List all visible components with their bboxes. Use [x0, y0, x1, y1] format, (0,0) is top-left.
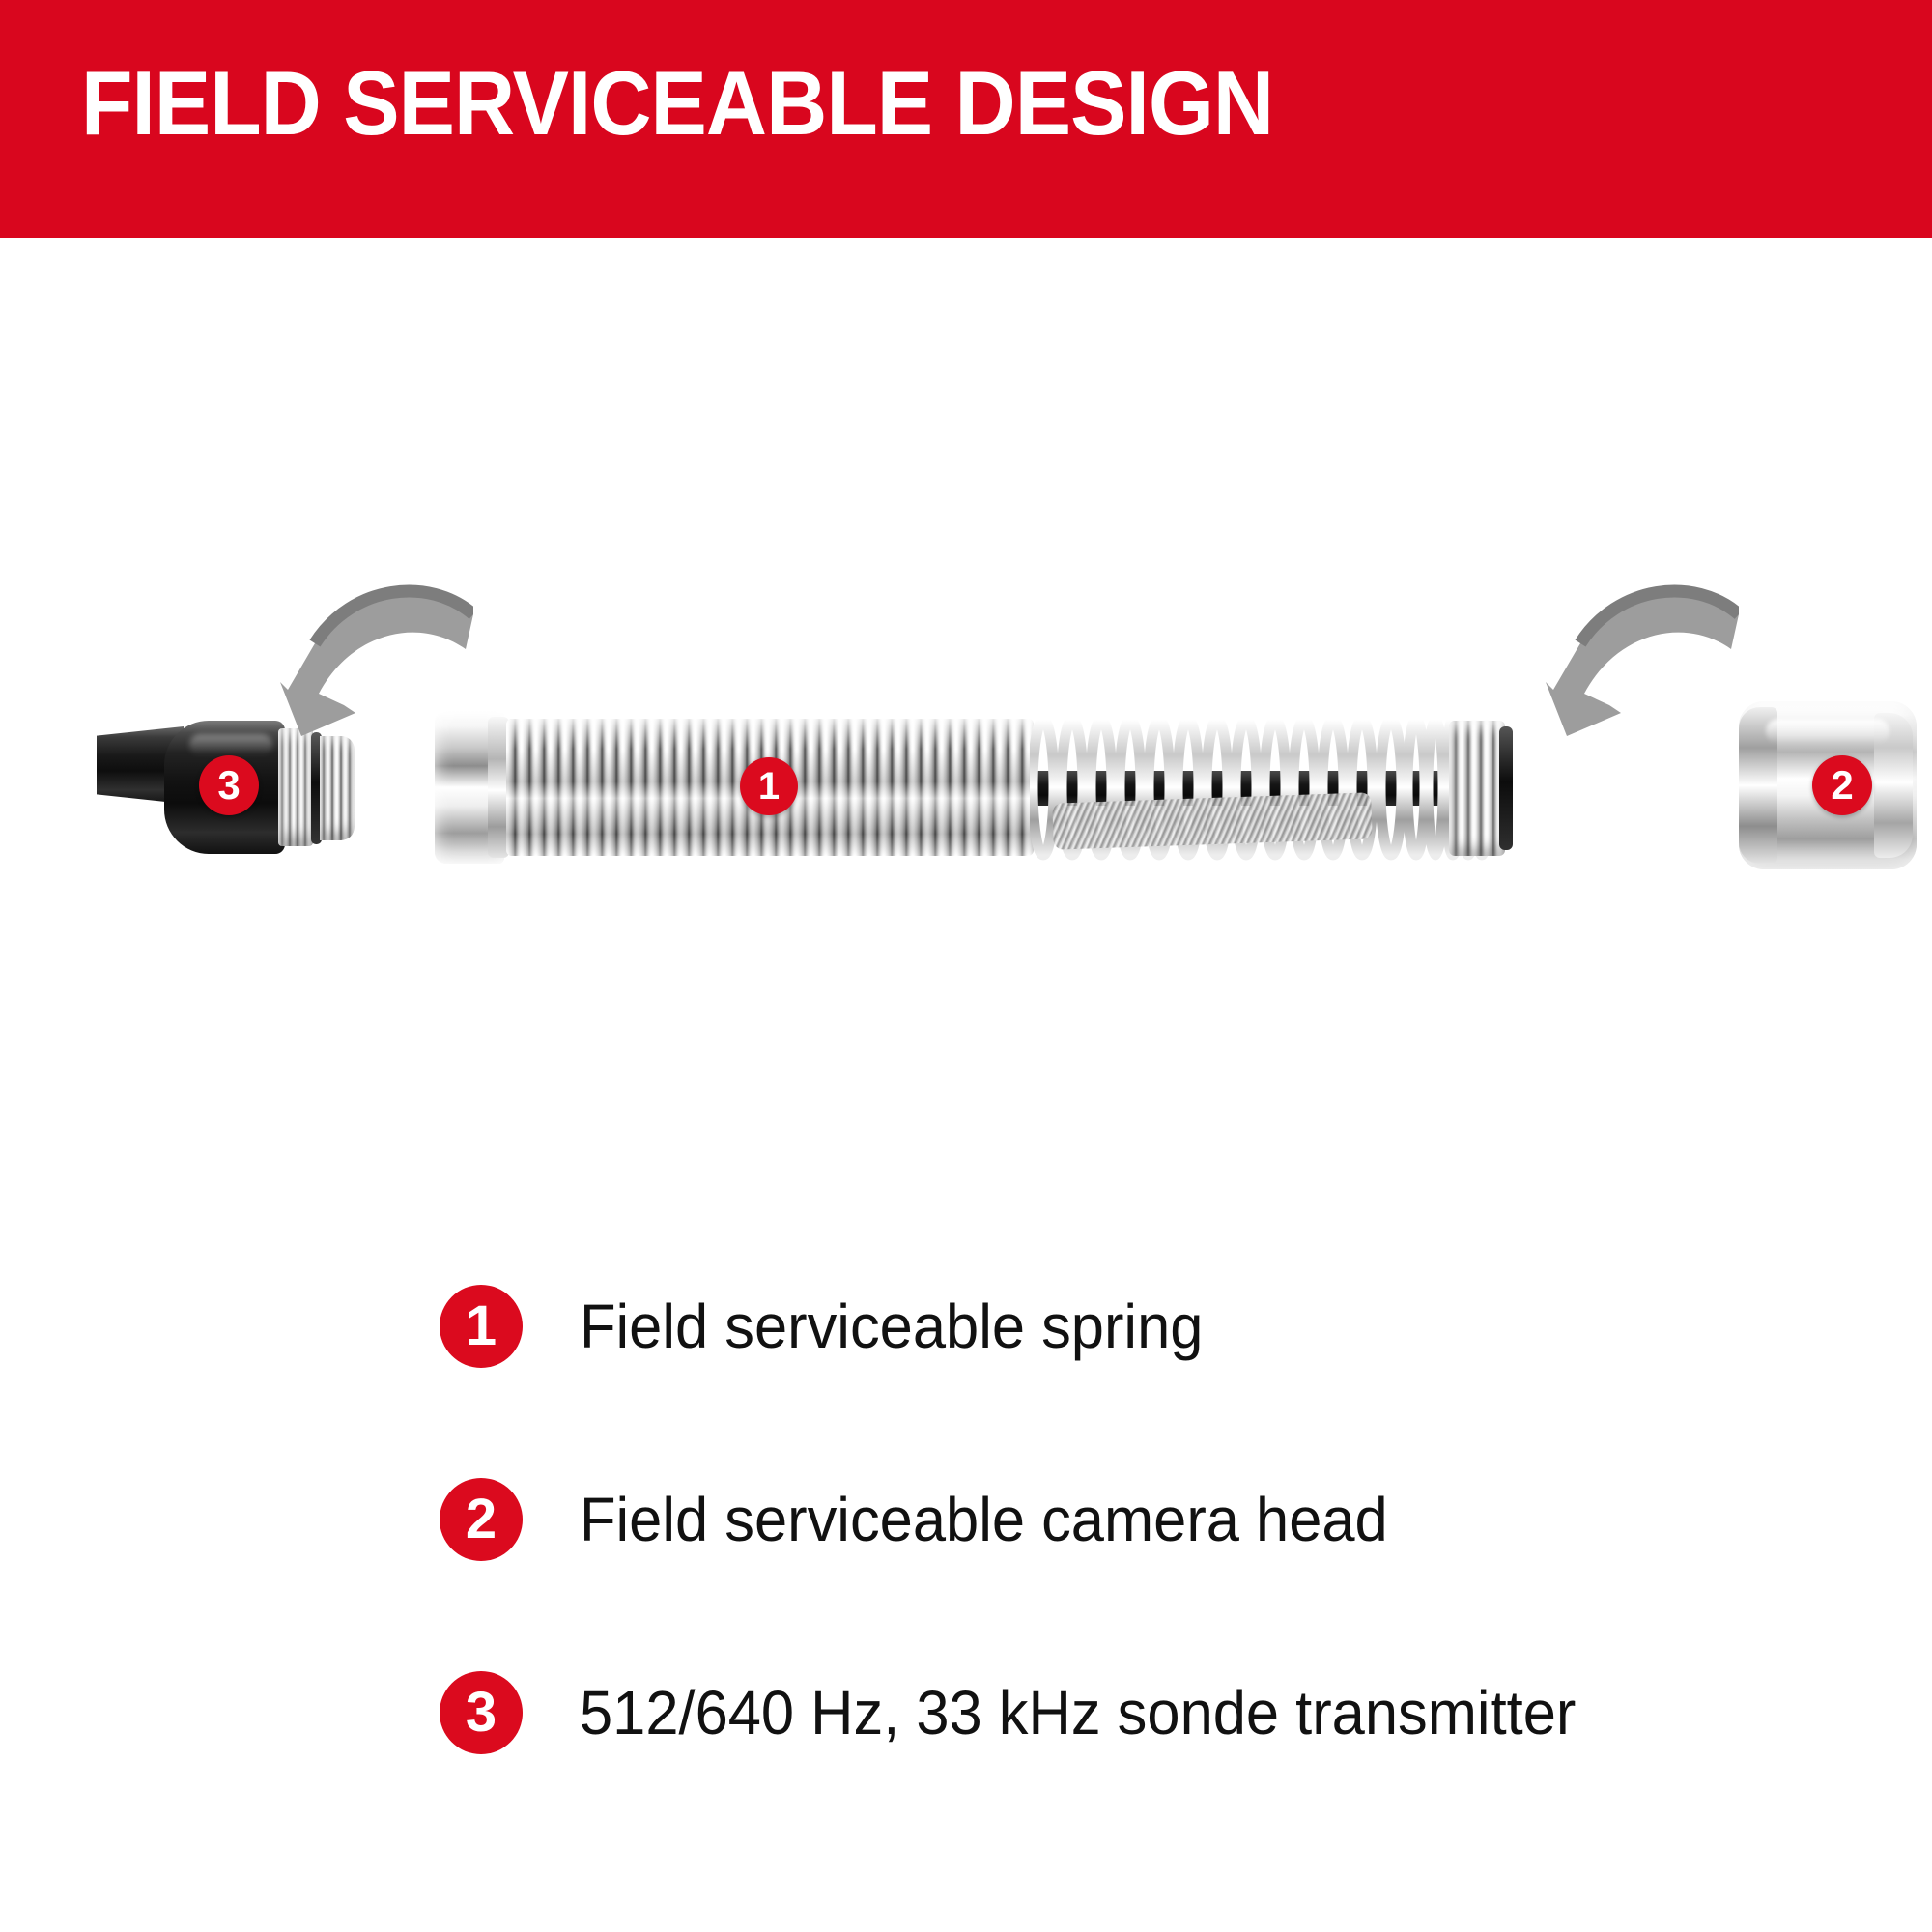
legend-badge-3: 3	[440, 1671, 523, 1754]
camera-head-gloss	[1766, 719, 1889, 744]
legend-item-2: 2 Field serviceable camera head	[440, 1478, 1792, 1671]
legend-list: 1 Field serviceable spring 2 Field servi…	[440, 1285, 1792, 1864]
spring-thread-end	[1449, 721, 1505, 856]
disassembly-arrow-right-icon	[1546, 556, 1739, 779]
legend-item-1: 1 Field serviceable spring	[440, 1285, 1792, 1478]
sonde-highlight	[189, 734, 272, 755]
legend-item-3: 3 512/640 Hz, 33 kHz sonde transmitter	[440, 1671, 1792, 1864]
legend-badge-1: 1	[440, 1285, 523, 1368]
page-title: FIELD SERVICEABLE DESIGN	[81, 50, 1273, 156]
spring-end-o-ring	[1499, 726, 1513, 850]
legend-label-2: Field serviceable camera head	[580, 1482, 1388, 1557]
header-banner: FIELD SERVICEABLE DESIGN	[0, 0, 1932, 238]
legend-badge-2: 2	[440, 1478, 523, 1561]
legend-label-1: Field serviceable spring	[580, 1289, 1203, 1364]
legend-label-3: 512/640 Hz, 33 kHz sonde transmitter	[580, 1675, 1576, 1750]
illustration-badge-3: 3	[199, 755, 259, 815]
illustration-badge-2: 2	[1812, 755, 1872, 815]
product-illustration: 3 1 2	[0, 238, 1932, 1204]
disassembly-arrow-left-icon	[280, 556, 473, 779]
illustration-badge-1: 1	[740, 757, 798, 815]
